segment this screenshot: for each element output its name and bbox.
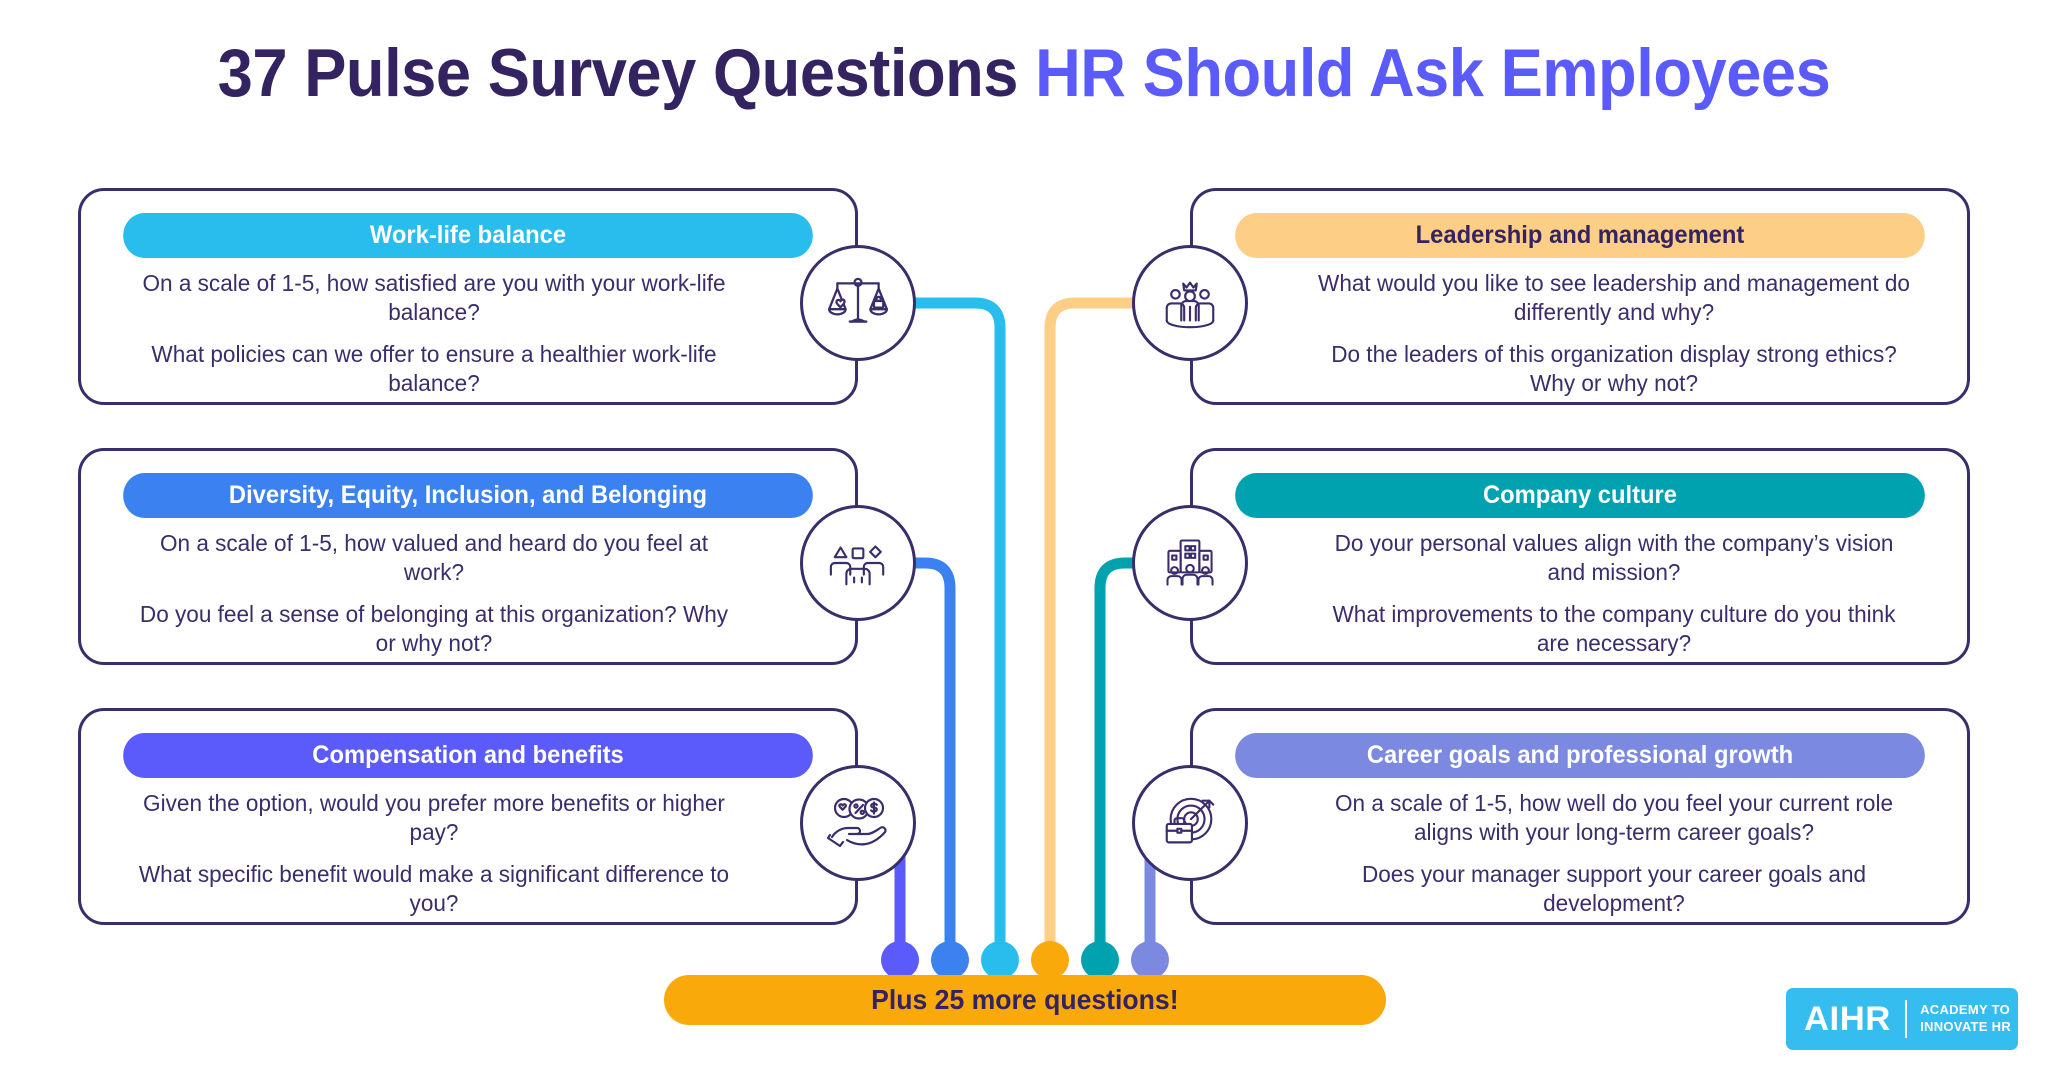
question-item: What improvements to the company culture… [1315, 600, 1912, 658]
card-compensation-and-benefits[interactable]: Compensation and benefits Given the opti… [78, 708, 858, 925]
office-building-icon [1132, 505, 1248, 621]
card-leadership-and-management[interactable]: Leadership and management What would you… [1190, 188, 1970, 405]
logo-tagline-line-2: INNOVATE HR [1920, 1019, 2011, 1036]
dot-deib [931, 941, 969, 979]
balance-scales-icon [800, 245, 916, 361]
card-work-life-balance[interactable]: Work-life balance On a scale of 1-5, how… [78, 188, 858, 405]
dot-career-goals [1131, 941, 1169, 979]
question-item: What policies can we offer to ensure a h… [135, 340, 732, 398]
card-career-goals-professional-growth[interactable]: Career goals and professional growth On … [1190, 708, 1970, 925]
card-heading-compensation: Compensation and benefits [123, 733, 813, 778]
card-diversity-equity-inclusion-belonging[interactable]: Diversity, Equity, Inclusion, and Belong… [78, 448, 858, 665]
leadership-team-icon [1132, 245, 1248, 361]
question-item: Do the leaders of this organization disp… [1315, 340, 1912, 398]
question-list-work-life-balance: On a scale of 1-5, how satisfied are you… [123, 263, 745, 392]
card-heading-leadership: Leadership and management [1235, 213, 1925, 258]
hand-coins-icon [800, 765, 916, 881]
question-list-career-goals: On a scale of 1-5, how well do you feel … [1303, 783, 1925, 912]
dot-leadership [1031, 941, 1069, 979]
question-item: On a scale of 1-5, how valued and heard … [135, 529, 732, 587]
question-item: Given the option, would you prefer more … [135, 789, 732, 847]
question-list-company-culture: Do your personal values align with the c… [1303, 523, 1925, 652]
question-item: What specific benefit would make a signi… [135, 860, 732, 918]
question-item: Does your manager support your career go… [1315, 860, 1912, 918]
question-list-leadership: What would you like to see leadership an… [1303, 263, 1925, 392]
plus-more-questions-pill[interactable]: Plus 25 more questions! [664, 975, 1386, 1025]
target-arrow-briefcase-icon [1132, 765, 1248, 881]
aihr-logo: AIHR ACADEMY TO INNOVATE HR [1786, 988, 2018, 1050]
card-heading-work-life-balance: Work-life balance [123, 213, 813, 258]
dot-compensation [881, 941, 919, 979]
dot-company-culture [1081, 941, 1119, 979]
plus-more-questions-label: Plus 25 more questions! [871, 984, 1178, 1016]
question-item: Do you feel a sense of belonging at this… [135, 600, 732, 658]
dot-work-life-balance [981, 941, 1019, 979]
question-list-compensation: Given the option, would you prefer more … [123, 783, 745, 912]
infographic-canvas: 37 Pulse Survey Questions HR Should Ask … [0, 0, 2048, 1071]
question-list-deib: On a scale of 1-5, how valued and heard … [123, 523, 745, 652]
card-company-culture[interactable]: Company culture Do your personal values … [1190, 448, 1970, 665]
page-title-part-2: HR Should Ask Employees [1035, 35, 1830, 111]
wire-deib [858, 563, 950, 955]
question-item: On a scale of 1-5, how satisfied are you… [135, 269, 732, 327]
page-title: 37 Pulse Survey Questions HR Should Ask … [72, 34, 1977, 112]
connector-end-dots [881, 941, 1169, 979]
logo-tagline-line-1: ACADEMY TO [1920, 1002, 2011, 1019]
diverse-people-icon [800, 505, 916, 621]
question-item: What would you like to see leadership an… [1315, 269, 1912, 327]
logo-tagline: ACADEMY TO INNOVATE HR [1920, 1002, 2011, 1035]
wire-company-culture [1100, 563, 1190, 955]
card-heading-career-goals: Career goals and professional growth [1235, 733, 1925, 778]
logo-divider [1905, 1000, 1907, 1038]
page-title-part-1: 37 Pulse Survey Questions [218, 35, 1018, 111]
logo-wordmark: AIHR [1804, 1000, 1891, 1039]
question-item: Do your personal values align with the c… [1315, 529, 1912, 587]
question-item: On a scale of 1-5, how well do you feel … [1315, 789, 1912, 847]
card-heading-company-culture: Company culture [1235, 473, 1925, 518]
card-heading-deib: Diversity, Equity, Inclusion, and Belong… [123, 473, 813, 518]
